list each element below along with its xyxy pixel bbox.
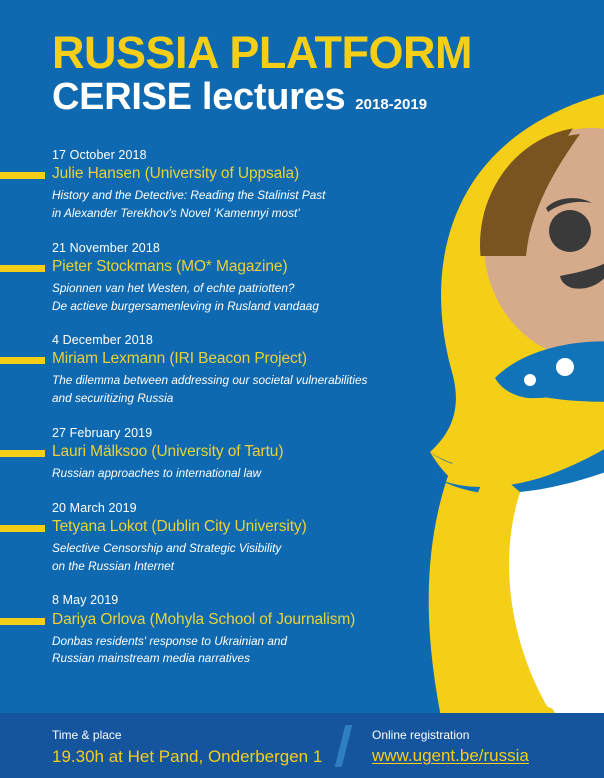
lecture-date: 17 October 2018	[52, 146, 430, 164]
doll-apron-rim	[469, 468, 578, 746]
lecture-name-row: Miriam Lexmann (IRI Beacon Project)	[0, 349, 430, 371]
lecture-description-line2: and securitizing Russia	[52, 390, 430, 407]
lecture-speaker: Pieter Stockmans (MO* Magazine)	[52, 257, 288, 278]
lecture-speaker: Dariya Orlova (Mohyla School of Journali…	[52, 610, 355, 631]
bullet-dash-icon	[0, 265, 45, 272]
lecture-speaker: Lauri Mälksoo (University of Tartu)	[52, 442, 283, 463]
doll-body-yellow	[442, 305, 604, 720]
lecture-description-line1: Russian approaches to international law	[52, 465, 430, 482]
lecture-item: 17 October 2018 Julie Hansen (University…	[0, 146, 430, 222]
lecture-speaker: Miriam Lexmann (IRI Beacon Project)	[52, 349, 307, 370]
lecture-description-line1: History and the Detective: Reading the S…	[52, 187, 430, 204]
bullet-dash-icon	[0, 525, 45, 532]
doll-smile	[560, 258, 604, 289]
lecture-item: 4 December 2018 Miriam Lexmann (IRI Beac…	[0, 331, 430, 407]
registration-label: Online registration	[372, 726, 529, 744]
doll-face	[484, 128, 604, 360]
doll-headscarf	[430, 82, 604, 469]
doll-apron-body	[513, 436, 604, 714]
lecture-description-line1: The dilemma between addressing our socie…	[52, 372, 430, 389]
lecture-date: 21 November 2018	[52, 239, 430, 257]
page-subtitle: CERISE lectures	[52, 78, 345, 118]
lecture-speaker: Tetyana Lokot (Dublin City University)	[52, 517, 307, 538]
subtitle-row: CERISE lectures 2018-2019	[52, 78, 452, 118]
lecture-item: 27 February 2019 Lauri Mälksoo (Universi…	[0, 424, 430, 482]
lecture-item: 20 March 2019 Tetyana Lokot (Dublin City…	[0, 499, 430, 575]
poster-header: RUSSIA PLATFORM CERISE lectures 2018-201…	[52, 30, 452, 118]
academic-year-label: 2018-2019	[355, 96, 427, 113]
doll-leaf-motif-left	[495, 341, 604, 398]
leaf-dot-small	[524, 374, 536, 386]
lecture-list: 17 October 2018 Julie Hansen (University…	[0, 146, 430, 684]
lecture-description-line2: Russian mainstream media narratives	[52, 650, 430, 667]
doll-leaf-motif-upper	[520, 342, 604, 402]
lecture-name-row: Dariya Orlova (Mohyla School of Journali…	[0, 610, 430, 632]
page-title: RUSSIA PLATFORM	[52, 30, 452, 76]
lecture-item: 8 May 2019 Dariya Orlova (Mohyla School …	[0, 591, 430, 667]
leaf-dot-large	[556, 358, 574, 376]
lecture-description-line1: Spionnen van het Westen, of echte patrio…	[52, 280, 430, 297]
lecture-description-line1: Donbas residents' response to Ukrainian …	[52, 633, 430, 650]
lecture-name-row: Tetyana Lokot (Dublin City University)	[0, 517, 430, 539]
lecture-date: 4 December 2018	[52, 331, 430, 349]
bullet-dash-icon	[0, 450, 45, 457]
lecture-description-line2: on the Russian Internet	[52, 558, 430, 575]
lecture-name-row: Lauri Mälksoo (University of Tartu)	[0, 442, 430, 464]
lecture-item: 21 November 2018 Pieter Stockmans (MO* M…	[0, 239, 430, 315]
doll-eyebrow	[546, 198, 592, 212]
poster-footer: Time & place 19.30h at Het Pand, Onderbe…	[0, 713, 604, 778]
lecture-description-line2: De actieve burgersamenleving in Rusland …	[52, 298, 430, 315]
time-place-label: Time & place	[52, 726, 322, 744]
footer-time-place-block: Time & place 19.30h at Het Pand, Onderbe…	[52, 726, 322, 770]
doll-hair-mass	[476, 108, 604, 252]
slash-divider-icon	[335, 725, 352, 767]
footer-registration-block: Online registration www.ugent.be/russia	[372, 726, 529, 769]
poster-canvas: RUSSIA PLATFORM CERISE lectures 2018-201…	[0, 0, 604, 778]
time-place-value: 19.30h at Het Pand, Onderbergen 1	[52, 745, 322, 770]
doll-body-outline	[429, 300, 604, 778]
bullet-dash-icon	[0, 357, 45, 364]
lecture-name-row: Pieter Stockmans (MO* Magazine)	[0, 257, 430, 279]
lecture-speaker: Julie Hansen (University of Uppsala)	[52, 164, 299, 185]
doll-collar-accent	[436, 372, 604, 495]
lecture-name-row: Julie Hansen (University of Uppsala)	[0, 164, 430, 186]
doll-scarf-fold	[430, 320, 604, 517]
lecture-description-line1: Selective Censorship and Strategic Visib…	[52, 540, 430, 557]
doll-eye	[549, 210, 591, 252]
lecture-date: 27 February 2019	[52, 424, 430, 442]
doll-hair	[484, 116, 604, 250]
doll-hair-fringe	[478, 118, 580, 256]
registration-link[interactable]: www.ugent.be/russia	[372, 746, 529, 765]
bullet-dash-icon	[0, 172, 45, 179]
lecture-description-line2: in Alexander Terekhov's Novel ‘Kamennyi …	[52, 205, 430, 222]
lecture-date: 20 March 2019	[52, 499, 430, 517]
lecture-date: 8 May 2019	[52, 591, 430, 609]
doll-apron	[509, 430, 604, 729]
bullet-dash-icon	[0, 618, 45, 625]
